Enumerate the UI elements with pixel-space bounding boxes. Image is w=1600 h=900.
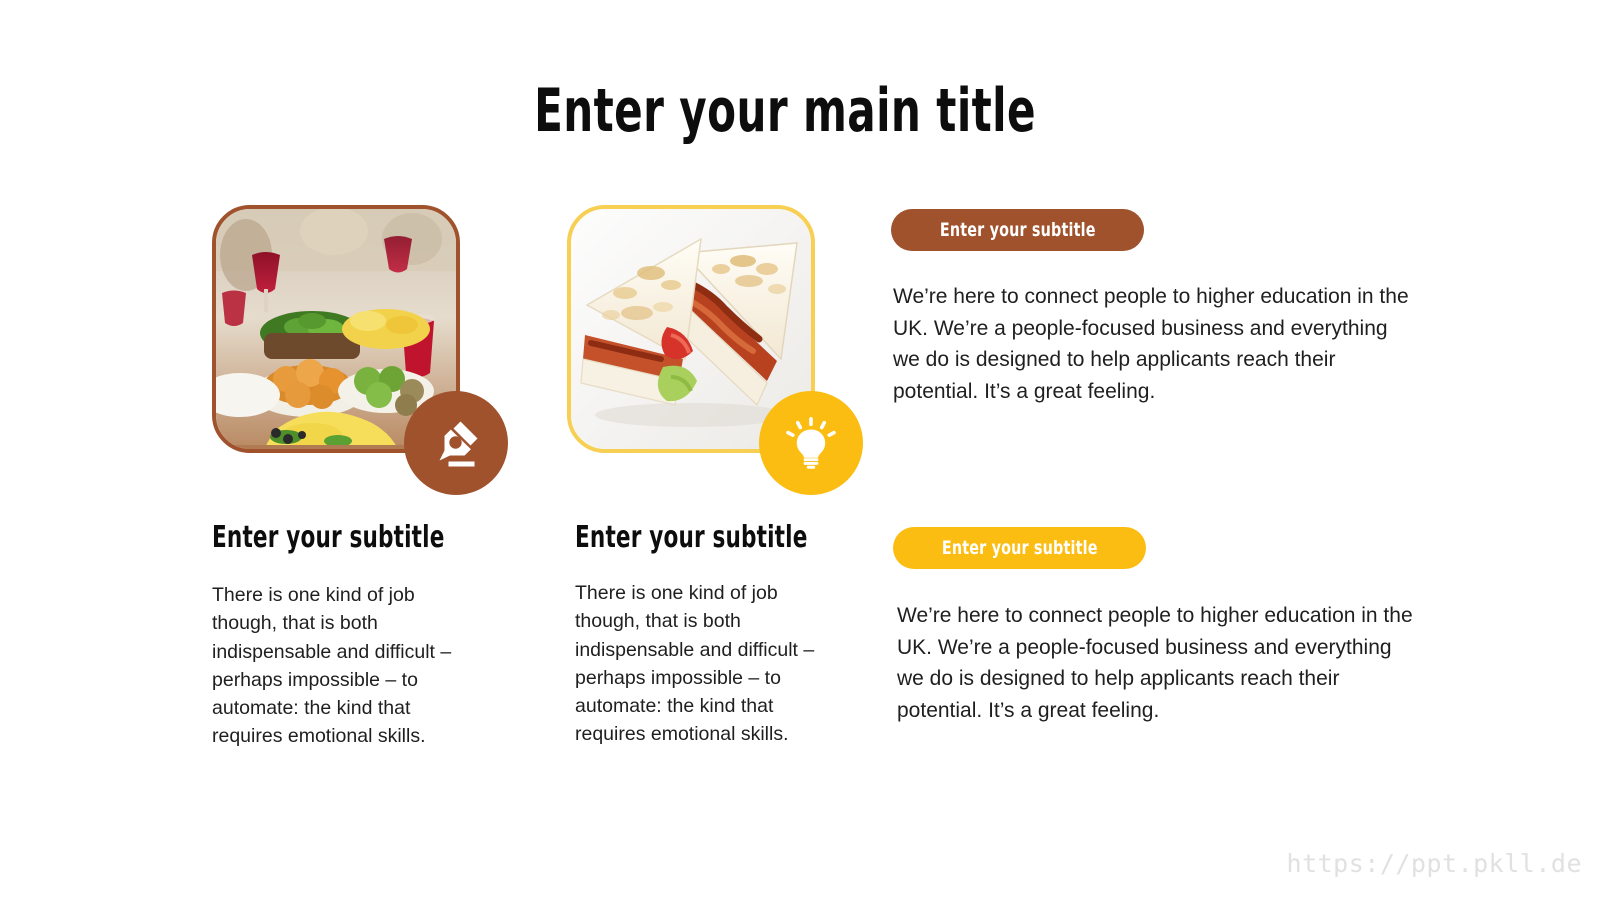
- column-two-subtitle: Enter your subtitle: [575, 520, 808, 555]
- image-card-one[interactable]: [212, 205, 460, 453]
- right-block-one-body: We’re here to connect people to higher e…: [893, 281, 1418, 407]
- page-title: Enter your main title: [173, 78, 1398, 144]
- right-block-two-body: We’re here to connect people to higher e…: [897, 600, 1422, 726]
- right-block-one-pill[interactable]: Enter your subtitle: [891, 209, 1144, 251]
- slide-canvas: Enter your main title: [0, 0, 1600, 900]
- image-card-two[interactable]: [567, 205, 815, 453]
- right-block-two-pill-label: Enter your subtitle: [942, 537, 1098, 559]
- column-two-body: There is one kind of job though, that is…: [575, 579, 847, 749]
- lightbulb-icon[interactable]: [759, 391, 863, 495]
- column-one-body: There is one kind of job though, that is…: [212, 581, 484, 751]
- pen-nib-icon[interactable]: [404, 391, 508, 495]
- watermark: https://ppt.pkll.de: [1287, 849, 1582, 878]
- right-block-two-pill[interactable]: Enter your subtitle: [893, 527, 1146, 569]
- right-block-one-pill-label: Enter your subtitle: [940, 219, 1096, 241]
- column-one-subtitle: Enter your subtitle: [212, 520, 445, 555]
